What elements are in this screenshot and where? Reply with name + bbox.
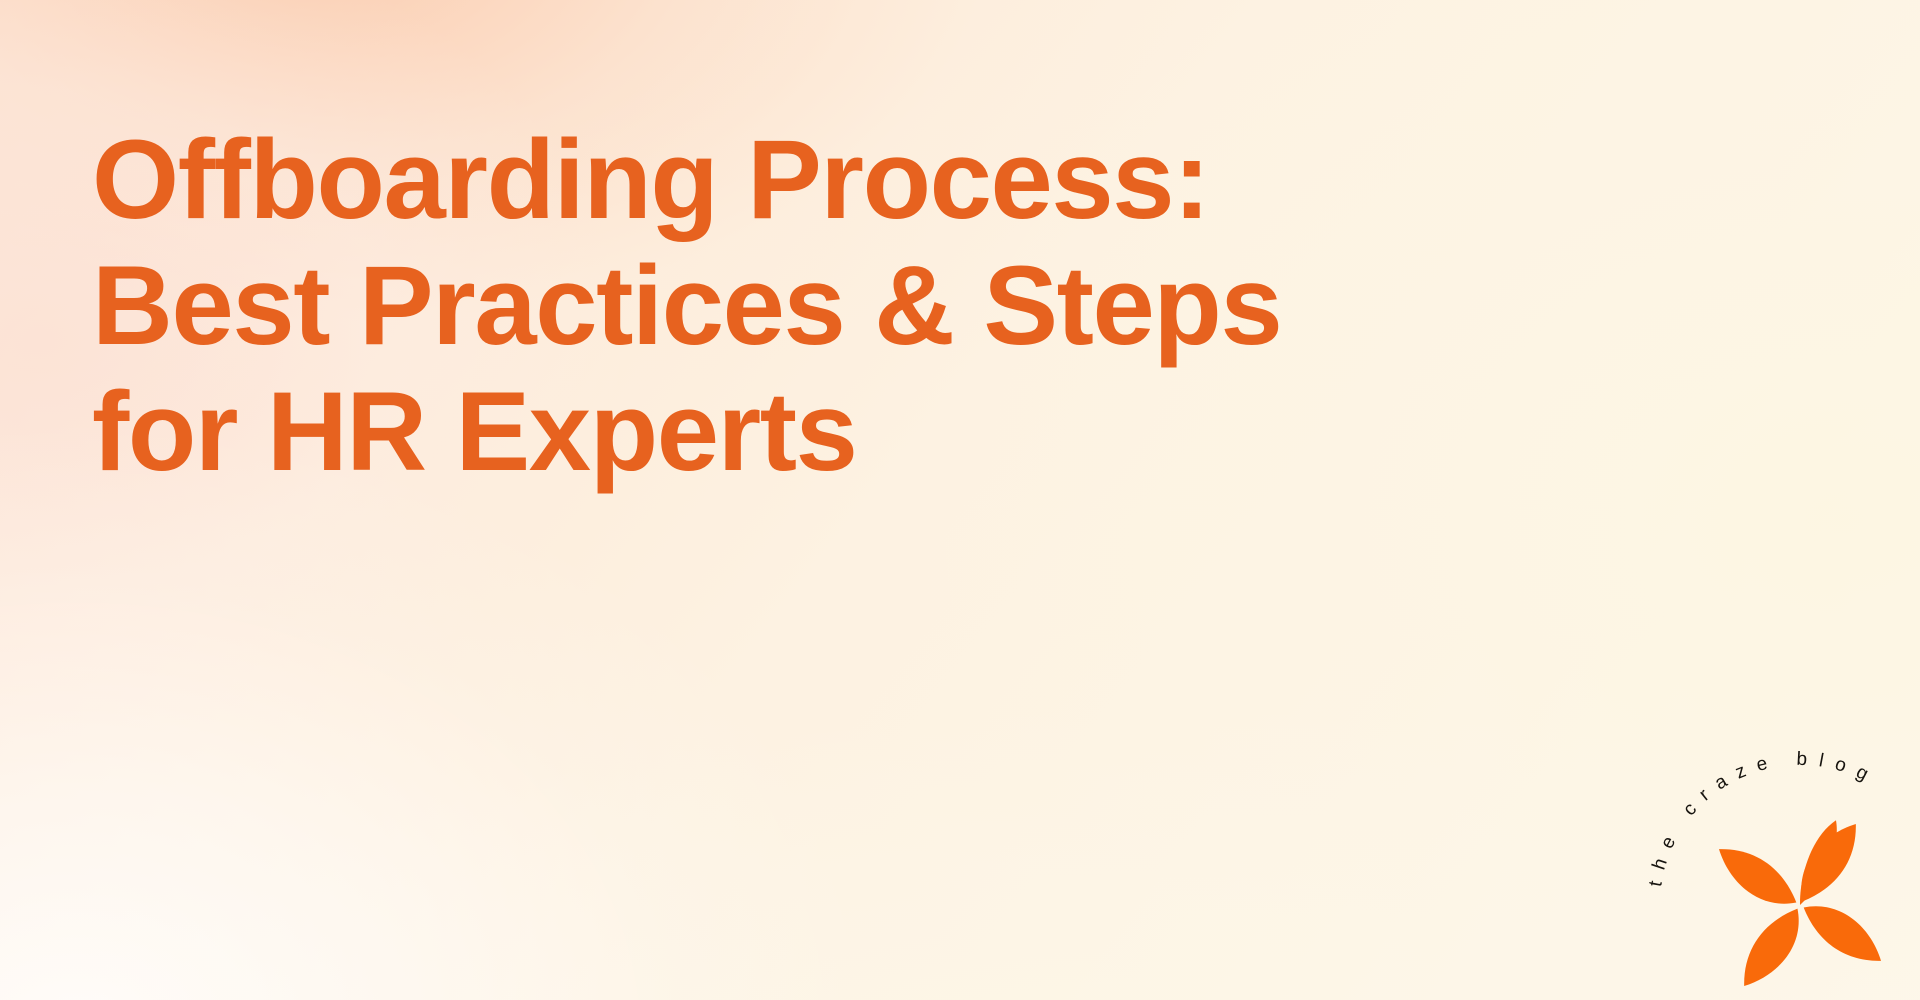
flower-icon bbox=[1713, 818, 1888, 993]
flower-petal-bottom bbox=[1743, 903, 1801, 993]
hero-banner: Offboarding Process: Best Practices & St… bbox=[0, 0, 1920, 1000]
page-title: Offboarding Process: Best Practices & St… bbox=[92, 117, 1392, 495]
page-title-line-3: for HR Experts bbox=[92, 369, 1392, 495]
page-title-line-1: Offboarding Process: bbox=[92, 117, 1392, 243]
flower-petal-left bbox=[1713, 848, 1803, 906]
brand-logo[interactable]: the craze blog bbox=[1645, 750, 1920, 1000]
flower-petal-right bbox=[1798, 904, 1888, 962]
page-title-line-2: Best Practices & Steps bbox=[92, 243, 1392, 369]
